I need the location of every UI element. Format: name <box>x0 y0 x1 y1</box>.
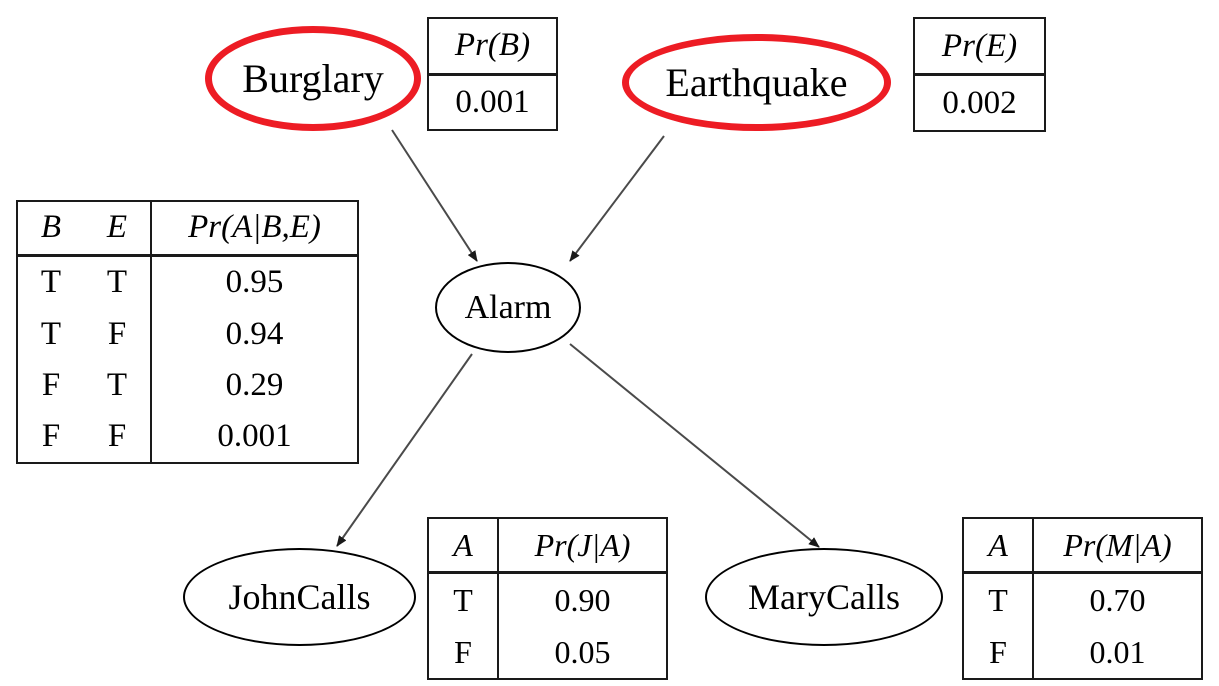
cpt-burglary-value: 0.001 <box>429 74 556 129</box>
cpt-alarm-r3-prob: 0.001 <box>151 411 357 462</box>
cpt-burglary-prior: Pr(B) 0.001 <box>427 17 558 131</box>
cpt-alarm-header-b: B <box>18 202 84 255</box>
cpt-marycalls: A Pr(M|A) T 0.70 F 0.01 <box>962 517 1203 680</box>
node-burglary[interactable]: Burglary <box>205 26 421 131</box>
node-marycalls-label: MaryCalls <box>748 579 900 615</box>
node-johncalls[interactable]: JohnCalls <box>183 548 416 646</box>
cpt-alarm-r0-e: T <box>84 255 151 308</box>
cpt-alarm-header-prob: Pr(A|B,E) <box>151 202 357 255</box>
cpt-marycalls-header-a: A <box>964 519 1033 573</box>
cpt-alarm-r1-prob: 0.94 <box>151 308 357 359</box>
cpt-johncalls-header-a: A <box>429 519 498 573</box>
cpt-johncalls-r0-prob: 0.90 <box>498 573 666 627</box>
cpt-alarm-r3-b: F <box>18 411 84 462</box>
cpt-johncalls: A Pr(J|A) T 0.90 F 0.05 <box>427 517 668 680</box>
table-row: F T 0.29 <box>18 360 357 411</box>
table-row: F 0.05 <box>429 626 666 678</box>
node-earthquake[interactable]: Earthquake <box>622 34 891 131</box>
cpt-johncalls-r1-prob: 0.05 <box>498 626 666 678</box>
cpt-johncalls-header-prob: Pr(J|A) <box>498 519 666 573</box>
cpt-alarm-r1-b: T <box>18 308 84 359</box>
node-earthquake-label: Earthquake <box>665 63 847 103</box>
cpt-alarm-r2-e: T <box>84 360 151 411</box>
table-row: F 0.01 <box>964 626 1201 678</box>
node-johncalls-label: JohnCalls <box>228 579 370 615</box>
cpt-alarm-header-e: E <box>84 202 151 255</box>
cpt-marycalls-r0-prob: 0.70 <box>1033 573 1201 627</box>
table-row: T F 0.94 <box>18 308 357 359</box>
edge-burglary-alarm <box>392 130 477 261</box>
cpt-alarm-r1-e: F <box>84 308 151 359</box>
table-row: T T 0.95 <box>18 255 357 308</box>
cpt-alarm: B E Pr(A|B,E) T T 0.95 T F 0.94 F T 0.29… <box>16 200 359 464</box>
cpt-marycalls-r0-a: T <box>964 573 1033 627</box>
table-row: 0.002 <box>915 75 1044 131</box>
cpt-earthquake-value: 0.002 <box>915 75 1044 131</box>
node-alarm[interactable]: Alarm <box>435 262 581 353</box>
table-row: 0.001 <box>429 74 556 129</box>
cpt-marycalls-r1-a: F <box>964 626 1033 678</box>
cpt-earthquake-prior: Pr(E) 0.002 <box>913 17 1046 132</box>
bayesian-network-diagram: Burglary Earthquake Alarm JohnCalls Mary… <box>0 0 1219 686</box>
table-row: T 0.70 <box>964 573 1201 627</box>
node-burglary-label: Burglary <box>242 59 383 99</box>
table-row: T 0.90 <box>429 573 666 627</box>
node-marycalls[interactable]: MaryCalls <box>705 548 943 646</box>
cpt-marycalls-header-prob: Pr(M|A) <box>1033 519 1201 573</box>
cpt-alarm-r2-b: F <box>18 360 84 411</box>
node-alarm-label: Alarm <box>465 291 552 325</box>
cpt-alarm-r0-prob: 0.95 <box>151 255 357 308</box>
cpt-alarm-r0-b: T <box>18 255 84 308</box>
cpt-marycalls-r1-prob: 0.01 <box>1033 626 1201 678</box>
cpt-earthquake-header-prob: Pr(E) <box>915 19 1044 75</box>
table-row: F F 0.001 <box>18 411 357 462</box>
cpt-johncalls-r1-a: F <box>429 626 498 678</box>
edge-earthquake-alarm <box>570 136 664 261</box>
cpt-burglary-header-prob: Pr(B) <box>429 19 556 74</box>
cpt-johncalls-r0-a: T <box>429 573 498 627</box>
cpt-alarm-r2-prob: 0.29 <box>151 360 357 411</box>
cpt-alarm-r3-e: F <box>84 411 151 462</box>
